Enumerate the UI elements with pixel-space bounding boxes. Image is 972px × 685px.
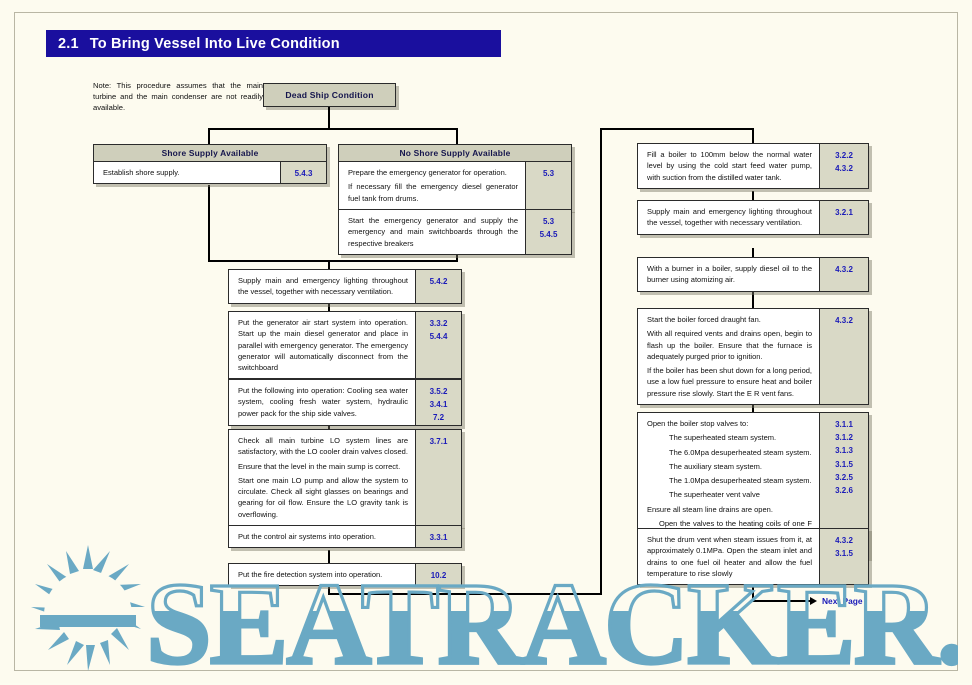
branch-left-header: Shore Supply Available bbox=[93, 144, 327, 161]
box-reference: 4.3.2 bbox=[819, 258, 868, 291]
connector-next-page-arrow-line bbox=[752, 600, 812, 602]
box-line: Start one main LO pump and allow the sys… bbox=[238, 475, 408, 520]
box-reference: 3.3.1 bbox=[415, 526, 461, 547]
reference-item: 3.1.1 bbox=[820, 418, 868, 431]
box-line: Shut the drum vent when steam issues fro… bbox=[647, 534, 812, 579]
reference-item: 3.7.1 bbox=[416, 435, 461, 448]
box-row: Start the emergency generator and supply… bbox=[338, 209, 572, 255]
box-row: Supply main and emergency lighting throu… bbox=[228, 269, 462, 304]
reference-item: 3.1.5 bbox=[820, 458, 868, 471]
start-node-dead-ship-condition: Dead Ship Condition bbox=[263, 83, 396, 107]
box-line: Ensure that the level in the main sump i… bbox=[238, 461, 408, 472]
box-line: Supply main and emergency lighting throu… bbox=[238, 275, 408, 298]
box-line: Put the fire detection system into opera… bbox=[238, 569, 408, 580]
box-line: If necessary fill the emergency diesel g… bbox=[348, 181, 518, 204]
reference-item: 3.3.2 bbox=[416, 317, 461, 330]
connector-right-spine bbox=[600, 128, 602, 595]
box-body: Put the control air systems into operati… bbox=[229, 526, 415, 547]
reference-item: 3.2.2 bbox=[820, 149, 868, 162]
section-title: To Bring Vessel Into Live Condition bbox=[90, 36, 340, 52]
branch-right-header: No Shore Supply Available bbox=[338, 144, 572, 161]
box-list-item: The superheated steam system. bbox=[647, 432, 812, 443]
box-forced-draught-fan: Start the boiler forced draught fan. Wit… bbox=[637, 308, 869, 405]
box-reference: 10.2 bbox=[415, 564, 461, 585]
box-body: Put the following into operation: Coolin… bbox=[229, 380, 415, 425]
page-title: 2.1 To Bring Vessel Into Live Condition bbox=[46, 30, 501, 57]
section-number: 2.1 bbox=[58, 36, 79, 52]
reference-item: 3.5.2 bbox=[416, 385, 461, 398]
next-page-arrowhead bbox=[810, 597, 817, 605]
box-fire-detection-system: Put the fire detection system into opera… bbox=[228, 563, 462, 586]
box-body: With a burner in a boiler, supply diesel… bbox=[638, 258, 819, 291]
reference-item: 3.2.6 bbox=[820, 484, 868, 497]
box-body: Put the generator air start system into … bbox=[229, 312, 415, 378]
box-line: Supply main and emergency lighting throu… bbox=[647, 206, 812, 229]
box-line: Start the emergency generator and supply… bbox=[348, 215, 518, 249]
reference-item: 3.2.1 bbox=[820, 206, 868, 219]
box-intro: Open the boiler stop valves to: bbox=[647, 418, 812, 429]
reference-item: 5.3 bbox=[526, 167, 571, 180]
box-row: Put the following into operation: Coolin… bbox=[228, 379, 462, 426]
reference-item: 4.3.2 bbox=[820, 263, 868, 276]
box-row: Put the fire detection system into opera… bbox=[228, 563, 462, 586]
box-reference: 4.3.2 3.1.5 bbox=[819, 529, 868, 584]
box-line: Fill a boiler to 100mm below the normal … bbox=[647, 149, 812, 183]
box-body: Put the fire detection system into opera… bbox=[229, 564, 415, 585]
box-line: Start the boiler forced draught fan. bbox=[647, 314, 812, 325]
reference-item: 4.3.2 bbox=[820, 534, 868, 547]
box-list-item: The auxiliary steam system. bbox=[647, 461, 812, 472]
box-reference: 3.2.2 4.3.2 bbox=[819, 144, 868, 188]
connector-left-branch-to-merge bbox=[208, 185, 210, 262]
connector-start-down bbox=[328, 107, 330, 129]
box-turbine-lo-system: Check all main turbine LO system lines a… bbox=[228, 429, 462, 526]
connector-spine-top bbox=[600, 128, 754, 130]
reference-item: 3.3.1 bbox=[416, 531, 461, 544]
box-body: Supply main and emergency lighting throu… bbox=[229, 270, 415, 303]
box-body: Shut the drum vent when steam issues fro… bbox=[638, 529, 819, 584]
box-supply-lighting-left: Supply main and emergency lighting throu… bbox=[228, 269, 462, 304]
box-reference: 3.5.2 3.4.1 7.2 bbox=[415, 380, 461, 425]
box-after-line: Ensure all steam line drains are open. bbox=[647, 504, 812, 515]
reference-item: 3.4.1 bbox=[416, 398, 461, 411]
box-line: If the boiler has been shut down for a l… bbox=[647, 365, 812, 399]
reference-item: 3.1.2 bbox=[820, 431, 868, 444]
box-list-item: The 1.0Mpa desuperheated steam system. bbox=[647, 475, 812, 486]
box-reference: 5.3 5.4.5 bbox=[525, 210, 571, 254]
box-body: Start the boiler forced draught fan. Wit… bbox=[638, 309, 819, 404]
reference-item: 4.3.2 bbox=[820, 162, 868, 175]
box-body: Check all main turbine LO system lines a… bbox=[229, 430, 415, 525]
box-drum-vent: Shut the drum vent when steam issues fro… bbox=[637, 528, 869, 585]
box-control-air-systems: Put the control air systems into operati… bbox=[228, 525, 462, 548]
box-line: Prepare the emergency generator for oper… bbox=[348, 167, 518, 178]
box-line: Check all main turbine LO system lines a… bbox=[238, 435, 408, 458]
box-prepare-emergency-generator: Prepare the emergency generator for oper… bbox=[338, 161, 572, 210]
reference-item: 7.2 bbox=[416, 411, 461, 424]
reference-item: 5.4.4 bbox=[416, 330, 461, 343]
box-list-item: The superheater vent valve bbox=[647, 489, 812, 500]
box-row: Supply main and emergency lighting throu… bbox=[637, 200, 869, 235]
box-line: Put the generator air start system into … bbox=[238, 317, 408, 373]
box-row: Start the boiler forced draught fan. Wit… bbox=[637, 308, 869, 405]
box-body: Fill a boiler to 100mm below the normal … bbox=[638, 144, 819, 188]
connector-merge-horizontal bbox=[208, 260, 458, 262]
connector-spine-into-first-box bbox=[752, 128, 754, 144]
box-cooling-systems: Put the following into operation: Coolin… bbox=[228, 379, 462, 426]
branch-no-shore-supply-available: No Shore Supply Available Prepare the em… bbox=[338, 144, 572, 210]
start-node-label: Dead Ship Condition bbox=[285, 90, 373, 100]
document-page: 2.1 To Bring Vessel Into Live Condition … bbox=[0, 0, 972, 683]
box-line: With all required vents and drains open,… bbox=[647, 328, 812, 362]
box-burner-diesel-oil: With a burner in a boiler, supply diesel… bbox=[637, 257, 869, 292]
box-reference: 3.3.2 5.4.4 bbox=[415, 312, 461, 378]
box-line: Put the control air systems into operati… bbox=[238, 531, 408, 542]
box-row: Fill a boiler to 100mm below the normal … bbox=[637, 143, 869, 189]
reference-item: 4.3.2 bbox=[820, 314, 868, 327]
box-body: Establish shore supply. bbox=[94, 162, 280, 183]
connector-left-bottom-to-spine bbox=[328, 593, 602, 595]
box-line: Put the following into operation: Coolin… bbox=[238, 385, 408, 419]
box-reference: 5.4.2 bbox=[415, 270, 461, 303]
box-line: Establish shore supply. bbox=[103, 167, 273, 178]
box-row: Put the control air systems into operati… bbox=[228, 525, 462, 548]
box-reference: 5.4.3 bbox=[280, 162, 326, 183]
procedure-note: Note: This procedure assumes that the ma… bbox=[93, 80, 263, 113]
reference-item: 5.4.3 bbox=[281, 167, 326, 180]
box-row: Put the generator air start system into … bbox=[228, 311, 462, 379]
box-reference: 4.3.2 bbox=[819, 309, 868, 404]
box-body: Prepare the emergency generator for oper… bbox=[339, 162, 525, 209]
box-reference: 3.2.1 bbox=[819, 201, 868, 234]
reference-item: 5.3 bbox=[526, 215, 571, 228]
box-body: Start the emergency generator and supply… bbox=[339, 210, 525, 254]
box-row: With a burner in a boiler, supply diesel… bbox=[637, 257, 869, 292]
box-supply-lighting-right: Supply main and emergency lighting throu… bbox=[637, 200, 869, 235]
reference-item: 5.4.2 bbox=[416, 275, 461, 288]
box-start-emergency-generator: Start the emergency generator and supply… bbox=[338, 209, 572, 255]
reference-item: 3.1.5 bbox=[820, 547, 868, 560]
connector-left-5 bbox=[328, 550, 330, 564]
reference-item: 3.2.5 bbox=[820, 471, 868, 484]
box-line: With a burner in a boiler, supply diesel… bbox=[647, 263, 812, 286]
connector-split-horizontal bbox=[208, 128, 458, 130]
reference-item: 10.2 bbox=[416, 569, 461, 582]
box-reference: 3.7.1 bbox=[415, 430, 461, 525]
reference-item: 5.4.5 bbox=[526, 228, 571, 241]
box-fill-boiler: Fill a boiler to 100mm below the normal … bbox=[637, 143, 869, 189]
box-reference: 5.3 bbox=[525, 162, 571, 209]
box-list-item: The 6.0Mpa desuperheated steam system. bbox=[647, 447, 812, 458]
reference-item: 3.1.3 bbox=[820, 444, 868, 457]
next-page-label: Next Page bbox=[822, 596, 863, 606]
box-body: Supply main and emergency lighting throu… bbox=[638, 201, 819, 234]
box-row: Check all main turbine LO system lines a… bbox=[228, 429, 462, 526]
box-row: Shut the drum vent when steam issues fro… bbox=[637, 528, 869, 585]
box-establish-shore-supply: Establish shore supply. 5.4.3 bbox=[93, 161, 327, 184]
box-generator-air-start: Put the generator air start system into … bbox=[228, 311, 462, 379]
branch-shore-supply-available: Shore Supply Available Establish shore s… bbox=[93, 144, 327, 184]
